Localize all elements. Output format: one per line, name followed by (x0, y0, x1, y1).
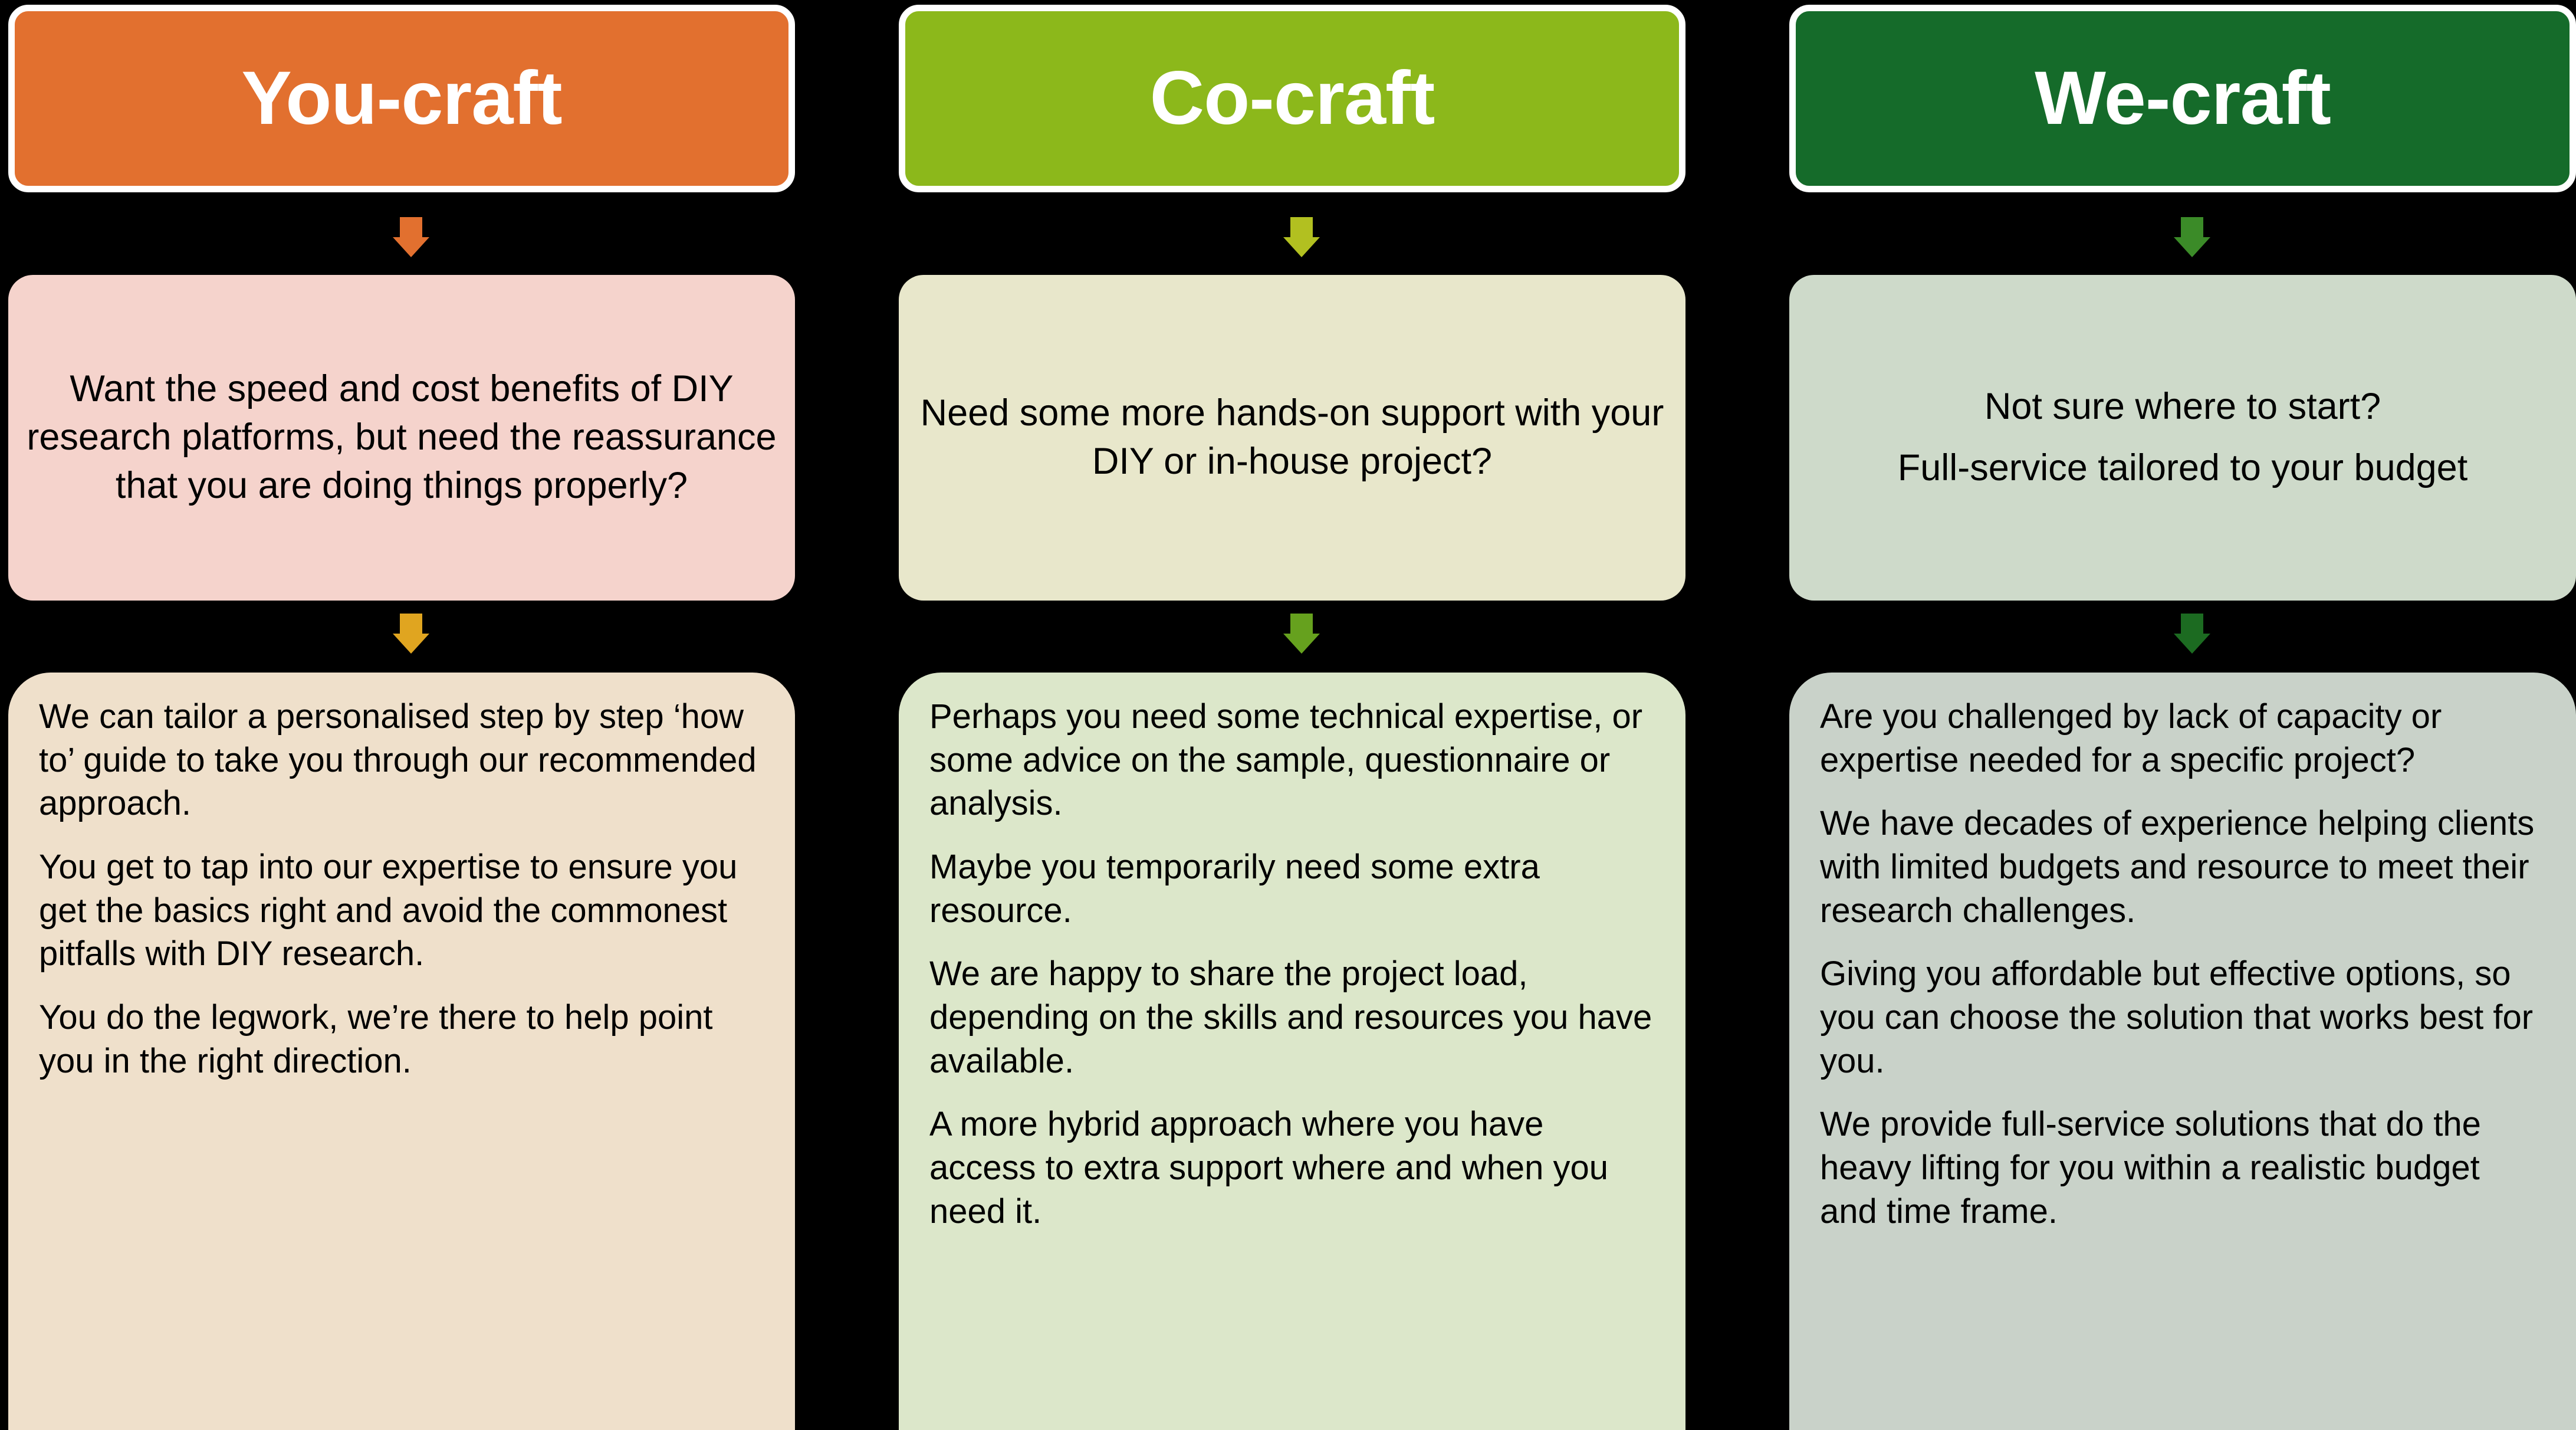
detail-paragraph: We are happy to share the project load, … (929, 952, 1655, 1083)
detail-paragraph: We can tailor a personalised step by ste… (39, 695, 764, 825)
header-box-we-craft[interactable]: We-craft (1789, 5, 2576, 192)
detail-paragraph: Maybe you temporarily need some extra re… (929, 845, 1655, 932)
header-title-you-craft: You-craft (241, 61, 561, 136)
question-box-we-craft: Not sure where to start? Full-service ta… (1789, 275, 2576, 601)
column-co-craft: Co-craft Need some more hands-on support… (899, 0, 1698, 1430)
detail-paragraph: Giving you affordable but effective opti… (1820, 952, 2545, 1083)
service-tiers-diagram: You-craft Want the speed and cost benefi… (0, 0, 2576, 1430)
header-box-you-craft[interactable]: You-craft (8, 5, 795, 192)
detail-paragraph: You do the legwork, we’re there to help … (39, 996, 764, 1083)
question-text: Need some more hands-on support with you… (916, 389, 1668, 486)
question-box-you-craft: Want the speed and cost benefits of DIY … (8, 275, 795, 601)
question-text: Want the speed and cost benefits of DIY … (26, 365, 777, 510)
detail-box-you-craft: We can tailor a personalised step by ste… (8, 673, 795, 1430)
detail-paragraph: We provide full-service solutions that d… (1820, 1103, 2545, 1233)
detail-box-co-craft: Perhaps you need some technical expertis… (899, 673, 1685, 1430)
detail-paragraph: We have decades of experience helping cl… (1820, 802, 2545, 932)
detail-box-we-craft: Are you challenged by lack of capacity o… (1789, 673, 2576, 1430)
question-text: Full-service tailored to your budget (1898, 444, 2467, 493)
question-text: Not sure where to start? (1984, 383, 2381, 431)
column-we-craft: We-craft Not sure where to start? Full-s… (1789, 0, 2576, 1430)
header-title-co-craft: Co-craft (1150, 61, 1435, 136)
header-title-we-craft: We-craft (2035, 61, 2331, 136)
header-box-co-craft[interactable]: Co-craft (899, 5, 1685, 192)
question-box-co-craft: Need some more hands-on support with you… (899, 275, 1685, 601)
detail-paragraph: You get to tap into our expertise to ens… (39, 845, 764, 976)
detail-paragraph: A more hybrid approach where you have ac… (929, 1103, 1655, 1233)
detail-paragraph: Are you challenged by lack of capacity o… (1820, 695, 2545, 782)
column-you-craft: You-craft Want the speed and cost benefi… (8, 0, 808, 1430)
detail-paragraph: Perhaps you need some technical expertis… (929, 695, 1655, 825)
